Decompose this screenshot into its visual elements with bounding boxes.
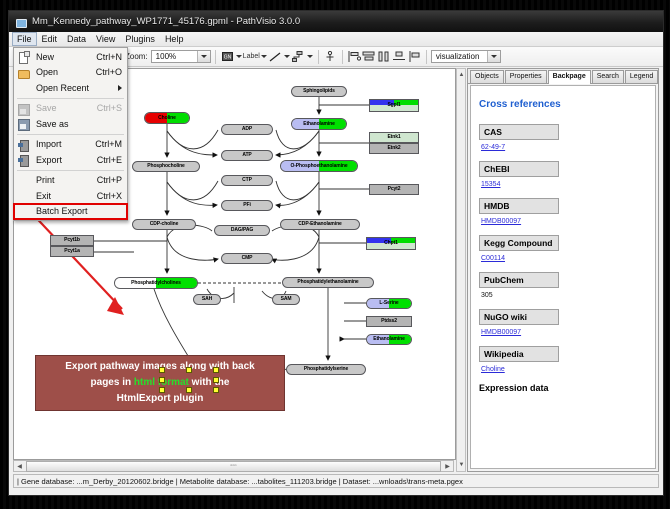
file-menu-item-print[interactable]: PrintCtrl+P (14, 173, 127, 189)
cross-reference-link[interactable]: HMDB00097 (481, 218, 521, 225)
pathway-node-label: Ethanolamine (303, 122, 335, 127)
selection-handles[interactable] (162, 370, 216, 390)
pathway-node-sam[interactable]: SAM (272, 294, 300, 305)
scrollbar-thumb[interactable]: ▫▫▫ (26, 461, 441, 472)
pathway-node-label: CTP (242, 178, 252, 183)
pathway-node-label: SAM (281, 297, 292, 302)
pathway-node-label: DAG/PAG (231, 228, 253, 233)
shape-tool-button[interactable] (291, 49, 306, 64)
cross-reference-link[interactable]: C00114 (481, 255, 505, 262)
import-icon (18, 140, 29, 150)
file-menu-label: New (36, 52, 96, 62)
menu-view[interactable]: View (91, 32, 120, 46)
anchor-tool-button[interactable] (323, 49, 338, 64)
align-center-button[interactable] (362, 49, 377, 64)
pathway-node-label: Phosphatidylethanolamine (297, 280, 358, 285)
file-menu-label: Open (36, 67, 96, 77)
pathway-node-phosphocholine[interactable]: Phosphocholine (132, 161, 200, 172)
pathway-node-ptdss2[interactable]: Ptdss2 (366, 316, 412, 327)
new-document-icon (18, 52, 29, 62)
file-menu-accelerator: Ctrl+M (95, 139, 127, 149)
zoom-value: 100% (156, 52, 176, 61)
selection-handle[interactable] (213, 367, 219, 373)
file-menu-item-new[interactable]: NewCtrl+N (14, 49, 127, 65)
file-menu-label: Print (36, 175, 97, 185)
pathway-node-phosphatidylserine[interactable]: Phosphatidylserine (286, 364, 366, 375)
backpage-content: Cross references CAS62-49-7ChEBI15354HMD… (470, 85, 656, 469)
tab-objects[interactable]: Objects (470, 70, 504, 83)
pathway-node-label: Phosphatidylcholines (131, 281, 181, 286)
chevron-down-icon-2 (487, 51, 500, 62)
pathway-node-label: CDP-Ethanolamine (298, 222, 341, 227)
tab-search[interactable]: Search (592, 70, 624, 83)
expression-data-heading: Expression data (479, 383, 647, 393)
pathway-node-etnk1[interactable]: Etnk1 (369, 132, 419, 143)
cross-reference-key-chebi: ChEBI (479, 161, 559, 177)
pathway-node-phosphatidylcholines[interactable]: Phosphatidylcholines (114, 277, 198, 289)
toolbar-separator (215, 50, 216, 64)
visualization-combobox[interactable]: visualization (431, 50, 501, 63)
canvas-horizontal-scrollbar[interactable]: ◀ ▫▫▫ ▶ (13, 460, 454, 472)
cross-reference-value-chebi[interactable]: 15354 (481, 181, 647, 188)
pathway-node-label: CMP (242, 256, 253, 261)
window-title: Mm_Kennedy_pathway_WP1771_45176.gpml - P… (32, 16, 300, 27)
file-menu-label: Batch Export (36, 206, 122, 216)
cross-reference-list: CAS62-49-7ChEBI15354HMDBHMDB00097Kegg Co… (479, 124, 647, 373)
file-menu-item-save-as[interactable]: Save as (14, 116, 127, 132)
visualization-value: visualization (436, 52, 480, 61)
zoom-combobox[interactable]: 100% (151, 50, 211, 63)
status-bar: | Gene database: ...m_Derby_20120602.bri… (13, 474, 659, 488)
cross-reference-value-wikipedia[interactable]: Choline (481, 366, 647, 373)
cross-reference-link[interactable]: 15354 (481, 181, 500, 188)
shape-dropdown-arrow[interactable] (306, 50, 314, 64)
pathway-node-label: Pcyt2 (388, 187, 401, 192)
align-right-button[interactable] (407, 49, 422, 64)
pathway-node-pcyt2[interactable]: Pcyt2 (369, 184, 419, 195)
pathway-node-ctp[interactable]: CTP (221, 175, 273, 186)
datanode-tool-button[interactable]: GN (220, 49, 235, 64)
datanode-dropdown-arrow[interactable] (235, 50, 243, 64)
scroll-left-icon[interactable]: ◀ (14, 461, 25, 471)
menu-separator (17, 170, 124, 171)
pathway-node-label: CDP-choline (150, 222, 179, 227)
file-menu-item-save: SaveCtrl+S (14, 101, 127, 117)
cross-reference-key-kegg-compound: Kegg Compound (479, 235, 559, 251)
toolbar-separator-3 (342, 50, 343, 64)
pathway-node-label: Etnk2 (387, 146, 400, 151)
file-menu-item-batch-export[interactable]: Batch Export (14, 204, 127, 220)
menu-bar: File Edit Data View Plugins Help (9, 32, 663, 47)
pathway-node-label: Chpt1 (384, 241, 398, 246)
pathway-node-label: Phosphatidylserine (304, 367, 348, 372)
pathway-node-atp[interactable]: ATP (221, 150, 273, 161)
export-icon (18, 155, 29, 165)
label-dropdown-arrow[interactable] (260, 50, 268, 64)
pathway-node-label: Sgpl1 (387, 103, 400, 108)
pathway-node-pfi[interactable]: PFi (221, 200, 273, 211)
save-as-disk-icon (18, 119, 29, 129)
pathway-node-phosphatidylethanolamine[interactable]: Phosphatidylethanolamine (282, 277, 374, 288)
line-tool-button[interactable] (268, 49, 283, 64)
callout-line2-pre: pages in (91, 377, 134, 388)
pathway-node-label: L-Serine (379, 301, 398, 306)
stack-bottom-button[interactable] (392, 49, 407, 64)
align-left-button[interactable] (347, 49, 362, 64)
file-menu-accelerator: Ctrl+E (97, 155, 127, 165)
pathway-node-label: Etnk1 (387, 135, 400, 140)
menu-file[interactable]: File (12, 32, 37, 46)
side-panel-tabs: Objects Properties Backpage Search Legen… (468, 69, 658, 84)
annotation-callout: Export pathway images along with back pa… (35, 355, 285, 411)
selection-handle[interactable] (159, 367, 165, 373)
file-menu-label: Save as (36, 119, 122, 129)
file-menu-label: Open Recent (36, 83, 122, 93)
label-tool-button[interactable]: Label (243, 53, 260, 60)
cross-reference-value-kegg-compound[interactable]: C00114 (481, 255, 647, 262)
file-menu-accelerator: Ctrl+X (97, 191, 127, 201)
pathway-node-choline[interactable]: Choline (144, 112, 190, 124)
pathway-node-label: Sphingolipids (303, 89, 335, 94)
cross-reference-value-pubchem: 305 (481, 292, 647, 299)
title-bar: Mm_Kennedy_pathway_WP1771_45176.gpml - P… (9, 11, 663, 32)
pathway-node-label: Ethanolamine (373, 337, 405, 342)
tab-properties[interactable]: Properties (505, 70, 547, 83)
file-menu-accelerator: Ctrl+S (97, 103, 127, 113)
open-folder-icon (18, 68, 29, 78)
toolbar-separator-2 (318, 50, 319, 64)
menu-help[interactable]: Help (160, 32, 189, 46)
pathway-node-label: PFi (243, 203, 250, 208)
pathway-node-label: Choline (158, 116, 176, 121)
selection-handle[interactable] (186, 387, 192, 393)
line-dropdown-arrow[interactable] (283, 50, 291, 64)
cross-reference-value-nugo-wiki[interactable]: HMDB00097 (481, 329, 647, 336)
pathway-node-chpt1[interactable]: Chpt1 (366, 237, 416, 250)
pathway-node-label: Phosphocholine (147, 164, 185, 169)
selection-handle[interactable] (186, 367, 192, 373)
callout-line3: HtmlExport plugin (117, 393, 204, 404)
cross-references-heading: Cross references (479, 99, 647, 110)
pathway-node-label: Ptdss2 (381, 319, 397, 324)
pathway-node-dag-pag[interactable]: DAG/PAG (214, 225, 270, 236)
screenshot-frame: Mm_Kennedy_pathway_WP1771_45176.gpml - P… (0, 0, 670, 509)
pathway-node-label: O-Phosphoethanolamine (290, 164, 347, 169)
pathway-node-pcyt1a[interactable]: Pcyt1a (50, 246, 94, 257)
pathvisio-app-icon (15, 16, 27, 28)
menu-separator (17, 98, 124, 99)
pathway-node-ethanolamine[interactable]: Ethanolamine (366, 334, 412, 345)
pathway-node-label: Pcyt1a (64, 249, 80, 254)
cross-reference-key-nugo-wiki: NuGO wiki (479, 309, 559, 325)
pathway-node-sgpl1[interactable]: Sgpl1 (369, 99, 419, 112)
scroll-right-icon[interactable]: ▶ (442, 461, 453, 471)
menu-data[interactable]: Data (62, 32, 91, 46)
file-menu-accelerator: Ctrl+P (97, 175, 127, 185)
pathway-node-etnk2[interactable]: Etnk2 (369, 143, 419, 154)
pathway-node-ethanolamine[interactable]: Ethanolamine (291, 118, 347, 130)
selection-handle[interactable] (159, 377, 165, 383)
align-columns-button[interactable] (377, 49, 392, 64)
pathway-node-label: SAH (202, 297, 212, 302)
side-panel: Objects Properties Backpage Search Legen… (467, 68, 659, 472)
pathway-node-l-serine[interactable]: L-Serine (366, 298, 412, 309)
file-menu-item-import[interactable]: ImportCtrl+M (14, 137, 127, 153)
file-menu-accelerator: Ctrl+O (96, 67, 127, 77)
file-menu-item-open-recent[interactable]: Open Recent (14, 80, 127, 96)
tab-backpage[interactable]: Backpage (548, 70, 591, 84)
menu-separator (17, 134, 124, 135)
selection-handle[interactable] (213, 387, 219, 393)
splitter-collapse-up-icon[interactable]: ▲ (458, 71, 465, 79)
zoom-label: Zoom: (125, 52, 148, 61)
pathway-node-sah[interactable]: SAH (193, 294, 221, 305)
cross-reference-value-hmdb[interactable]: HMDB00097 (481, 218, 647, 225)
selection-handle[interactable] (159, 387, 165, 393)
file-menu-label: Save (36, 103, 97, 113)
save-disk-icon (18, 104, 29, 114)
cross-reference-value-cas[interactable]: 62-49-7 (481, 144, 647, 151)
pathway-node-adp[interactable]: ADP (221, 124, 273, 135)
pathway-node-sphingolipids[interactable]: Sphingolipids (291, 86, 347, 97)
file-menu-label: Exit (36, 191, 97, 201)
pathway-node-cdp-ethanolamine[interactable]: CDP-Ethanolamine (280, 219, 360, 230)
status-bar-text: | Gene database: ...m_Derby_20120602.bri… (17, 477, 463, 486)
menu-edit[interactable]: Edit (37, 32, 63, 46)
pathway-node-label: ATP (242, 153, 251, 158)
pathvisio-window: Mm_Kennedy_pathway_WP1771_45176.gpml - P… (8, 10, 664, 496)
file-menu-item-export[interactable]: ExportCtrl+E (14, 152, 127, 168)
cross-reference-key-wikipedia: Wikipedia (479, 346, 559, 362)
cross-reference-key-hmdb: HMDB (479, 198, 559, 214)
file-menu-item-exit[interactable]: ExitCtrl+X (14, 188, 127, 204)
svg-text:GN: GN (223, 55, 231, 61)
cross-reference-link[interactable]: Choline (481, 366, 505, 373)
splitter-collapse-down-icon[interactable]: ▼ (458, 461, 465, 469)
pathway-node-cdp-choline[interactable]: CDP-choline (132, 219, 196, 230)
panel-splitter[interactable]: ▲ ▼ (456, 68, 466, 472)
file-menu-label: Export (36, 155, 97, 165)
pathway-node-label: Pcyt1b (64, 238, 80, 243)
pathway-node-cmp[interactable]: CMP (221, 253, 273, 264)
file-menu-popup[interactable]: NewCtrl+NOpenCtrl+OOpen RecentSaveCtrl+S… (13, 47, 128, 221)
selection-handle[interactable] (213, 377, 219, 383)
cross-reference-link[interactable]: HMDB00097 (481, 329, 521, 336)
chevron-down-icon (197, 51, 210, 62)
file-menu-label: Import (36, 139, 95, 149)
cross-reference-key-cas: CAS (479, 124, 559, 140)
file-menu-item-open[interactable]: OpenCtrl+O (14, 65, 127, 81)
tab-legend[interactable]: Legend (625, 70, 658, 83)
toolbar-separator-4 (426, 50, 427, 64)
pathway-node-o-phosphoethanolamine[interactable]: O-Phosphoethanolamine (280, 160, 358, 172)
file-menu-accelerator: Ctrl+N (96, 52, 127, 62)
cross-reference-link[interactable]: 62-49-7 (481, 144, 505, 151)
menu-plugins[interactable]: Plugins (120, 32, 160, 46)
pathway-node-pcyt1b[interactable]: Pcyt1b (50, 235, 94, 246)
cross-reference-key-pubchem: PubChem (479, 272, 559, 288)
pathway-node-label: ADP (242, 127, 252, 132)
